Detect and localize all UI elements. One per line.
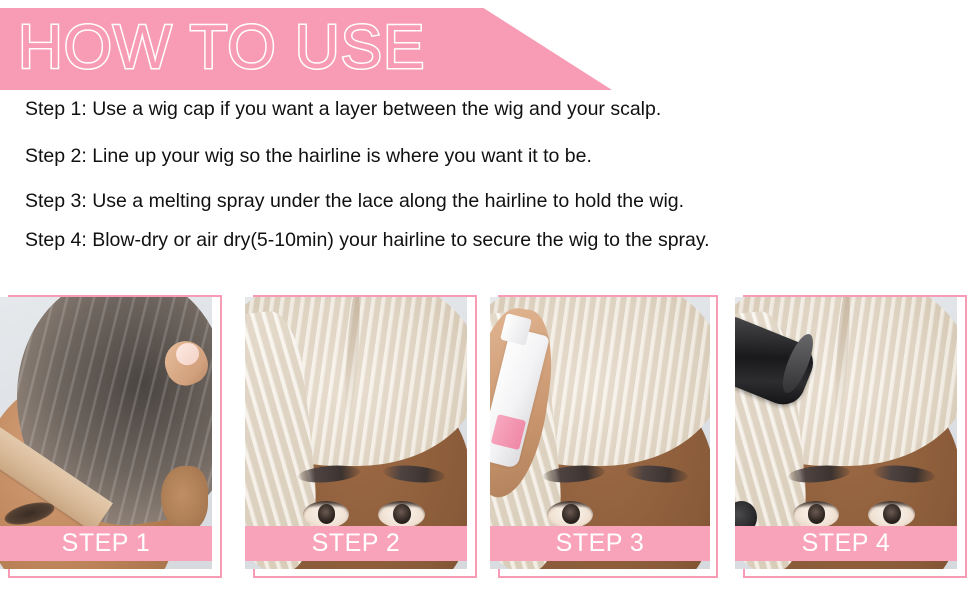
step-panel-1: STEP 1: [0, 293, 222, 578]
iris: [318, 504, 336, 524]
step-caption-bar-2: STEP 2: [245, 526, 467, 561]
iris: [808, 504, 826, 524]
iris: [562, 504, 580, 524]
step-text-1: Step 1: Use a wig cap if you want a laye…: [25, 98, 950, 121]
step-caption-label-4: STEP 4: [802, 531, 891, 556]
page-title: HOW TO USE: [18, 11, 425, 85]
how-to-use-banner: HOW TO USE: [0, 8, 612, 90]
step-caption-label-1: STEP 1: [62, 531, 151, 556]
step-text-3: Step 3: Use a melting spray under the la…: [25, 190, 950, 213]
step-caption-bar-1: STEP 1: [0, 526, 212, 561]
iris: [393, 504, 411, 524]
step-text-2: Step 2: Line up your wig so the hairline…: [25, 145, 950, 168]
step-text-4: Step 4: Blow-dry or air dry(5-10min) you…: [25, 229, 950, 252]
eye-right: [868, 501, 915, 528]
step-photo-panels: STEP 1: [0, 293, 970, 583]
eye-right: [378, 501, 425, 528]
step-caption-label-3: STEP 3: [556, 531, 645, 556]
steps-instructions: Step 1: Use a wig cap if you want a laye…: [25, 98, 950, 252]
step-panel-2: STEP 2: [245, 293, 477, 578]
ear: [161, 466, 208, 531]
step-caption-label-2: STEP 2: [312, 531, 401, 556]
iris: [883, 504, 901, 524]
step-panel-4: STEP 4: [735, 293, 967, 578]
step-caption-bar-4: STEP 4: [735, 526, 957, 561]
step-caption-bar-3: STEP 3: [490, 526, 710, 561]
step-panel-3: STEP 3: [490, 293, 718, 578]
